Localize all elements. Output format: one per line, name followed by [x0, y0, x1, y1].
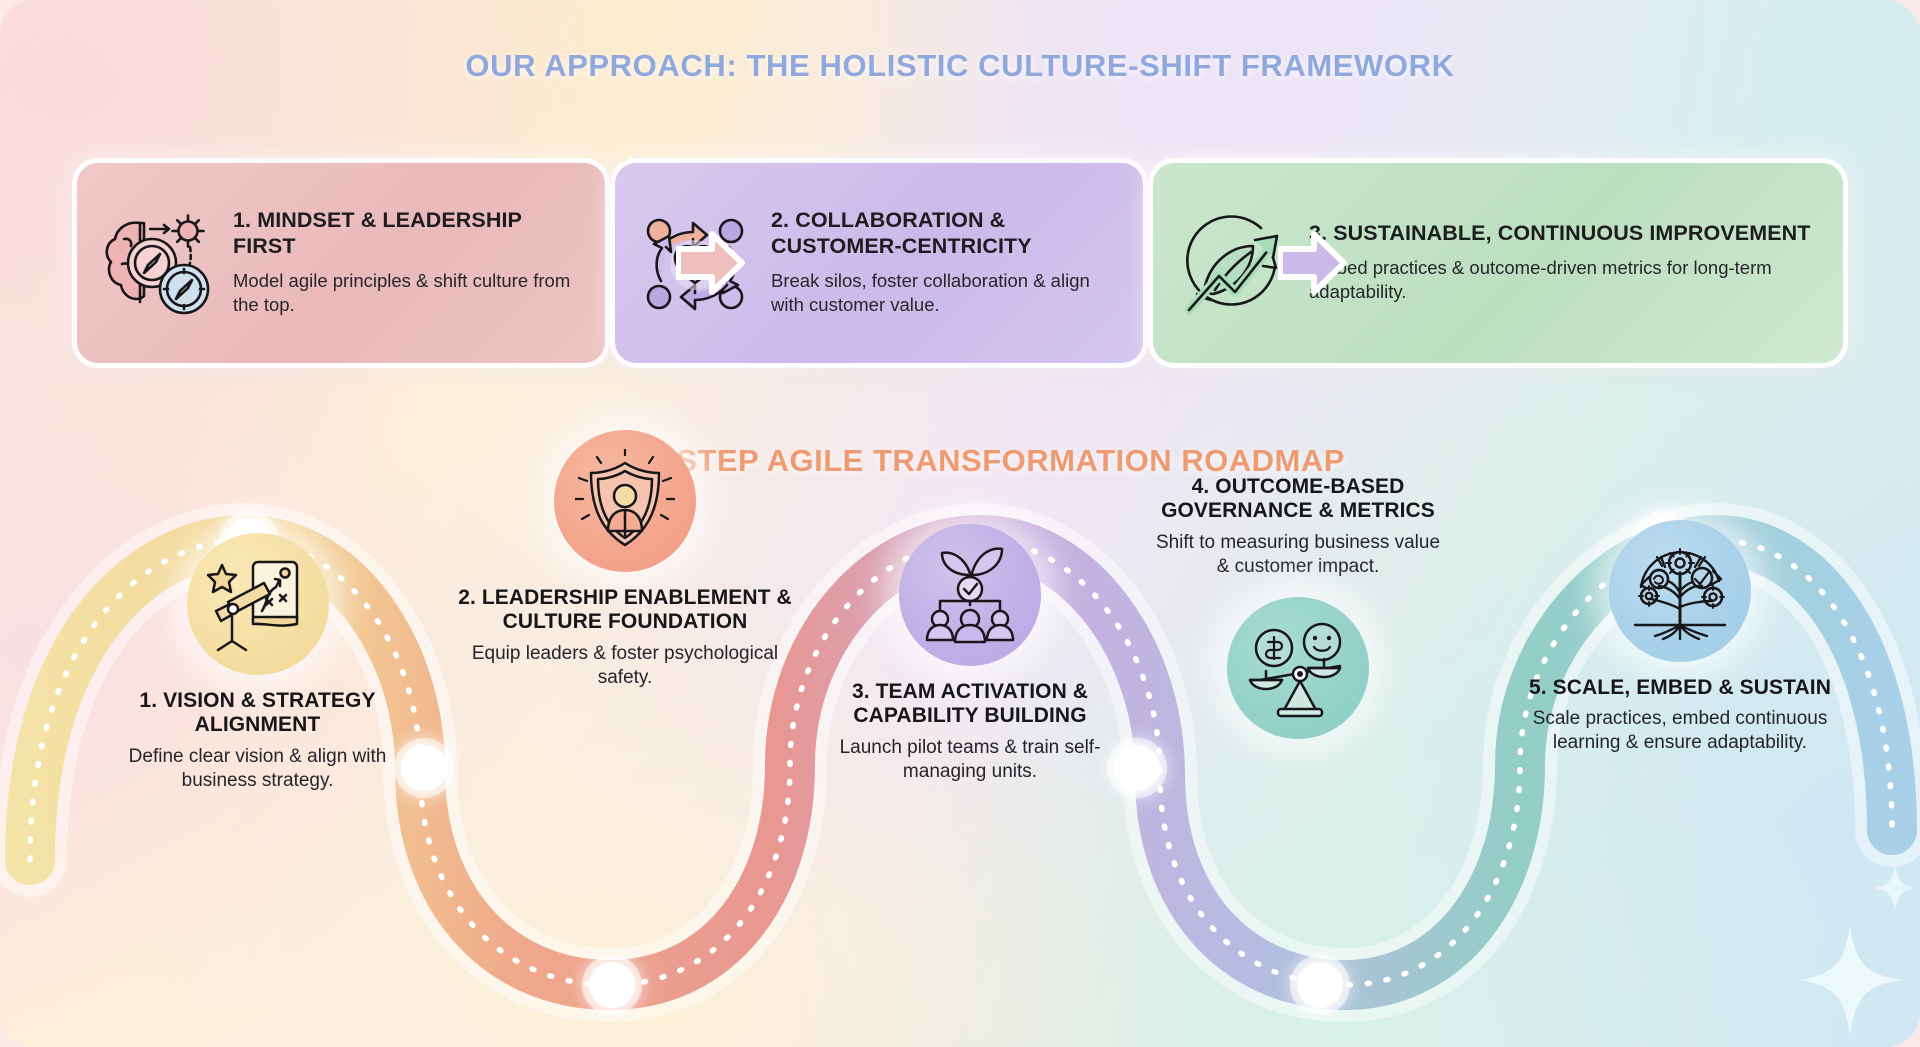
- roadmap-step-vision-strategy[interactable]: 1. VISION & STRATEGY ALIGNMENT Define cl…: [120, 533, 395, 793]
- pillar-heading: 1. MINDSET & LEADERSHIP FIRST: [233, 208, 583, 260]
- step-heading: 1. VISION & STRATEGY ALIGNMENT: [120, 689, 395, 738]
- balance-scale-icon: [1227, 597, 1369, 739]
- pillar-card-mindset-leadership[interactable]: 1. MINDSET & LEADERSHIP FIRST Model agil…: [72, 158, 610, 368]
- sprout-team-icon: [899, 524, 1041, 666]
- step-body: Shift to measuring business value & cust…: [1148, 531, 1448, 579]
- pillar-heading: 3. SUSTAINABLE, CONTINUOUS IMPROVEMENT: [1309, 221, 1821, 247]
- roadmap-step-team-activation[interactable]: 3. TEAM ACTIVATION & CAPABILITY BUILDING…: [810, 524, 1130, 784]
- pillar-heading: 2. COLLABORATION & CUSTOMER-CENTRICITY: [771, 208, 1121, 260]
- roadmap-title: THE 5-STEP AGILE TRANSFORMATION ROADMAP: [0, 443, 1920, 479]
- right-arrow-icon-1: [676, 226, 746, 300]
- framework-pillars: 1. MINDSET & LEADERSHIP FIRST Model agil…: [72, 158, 1848, 368]
- pillar-body: Model agile principles & shift culture f…: [233, 269, 583, 318]
- step-heading: 5. SCALE, EMBED & SUSTAIN: [1520, 676, 1840, 700]
- pillar-body: Embed practices & outcome-driven metrics…: [1309, 256, 1821, 305]
- step-heading: 2. LEADERSHIP ENABLEMENT & CULTURE FOUND…: [455, 586, 795, 635]
- page-title: OUR APPROACH: THE HOLISTIC CULTURE-SHIFT…: [0, 48, 1920, 84]
- step-heading: 4. OUTCOME-BASED GOVERNANCE & METRICS: [1148, 475, 1448, 524]
- tree-gears-icon: [1609, 520, 1751, 662]
- roadmap-node-5[interactable]: [1297, 962, 1343, 1008]
- pillar-body: Break silos, foster collaboration & alig…: [771, 269, 1121, 318]
- step-heading: 3. TEAM ACTIVATION & CAPABILITY BUILDING: [810, 680, 1130, 729]
- roadmap-step-outcome-governance[interactable]: 4. OUTCOME-BASED GOVERNANCE & METRICS Sh…: [1148, 475, 1448, 739]
- telescope-map-icon: [187, 533, 329, 675]
- right-arrow-icon-2: [1278, 226, 1348, 300]
- roadmap-node-3[interactable]: [589, 962, 635, 1008]
- step-body: Scale practices, embed continuous learni…: [1520, 707, 1840, 755]
- pillar-card-sustainable-improvement[interactable]: 3. SUSTAINABLE, CONTINUOUS IMPROVEMENT E…: [1148, 158, 1848, 368]
- roadmap-section: 1. VISION & STRATEGY ALIGNMENT Define cl…: [0, 500, 1920, 1047]
- roadmap-step-scale-embed-sustain[interactable]: 5. SCALE, EMBED & SUSTAIN Scale practice…: [1520, 520, 1840, 755]
- roadmap-node-2[interactable]: [401, 745, 447, 791]
- shield-person-icon: [554, 430, 696, 572]
- step-body: Define clear vision & align with busines…: [120, 745, 395, 793]
- roadmap-step-leadership-enablement[interactable]: 2. LEADERSHIP ENABLEMENT & CULTURE FOUND…: [455, 430, 795, 690]
- step-body: Launch pilot teams & train self-managing…: [810, 736, 1130, 784]
- brain-gear-compass-icon: [93, 201, 221, 325]
- step-body: Equip leaders & foster psychological saf…: [455, 642, 795, 690]
